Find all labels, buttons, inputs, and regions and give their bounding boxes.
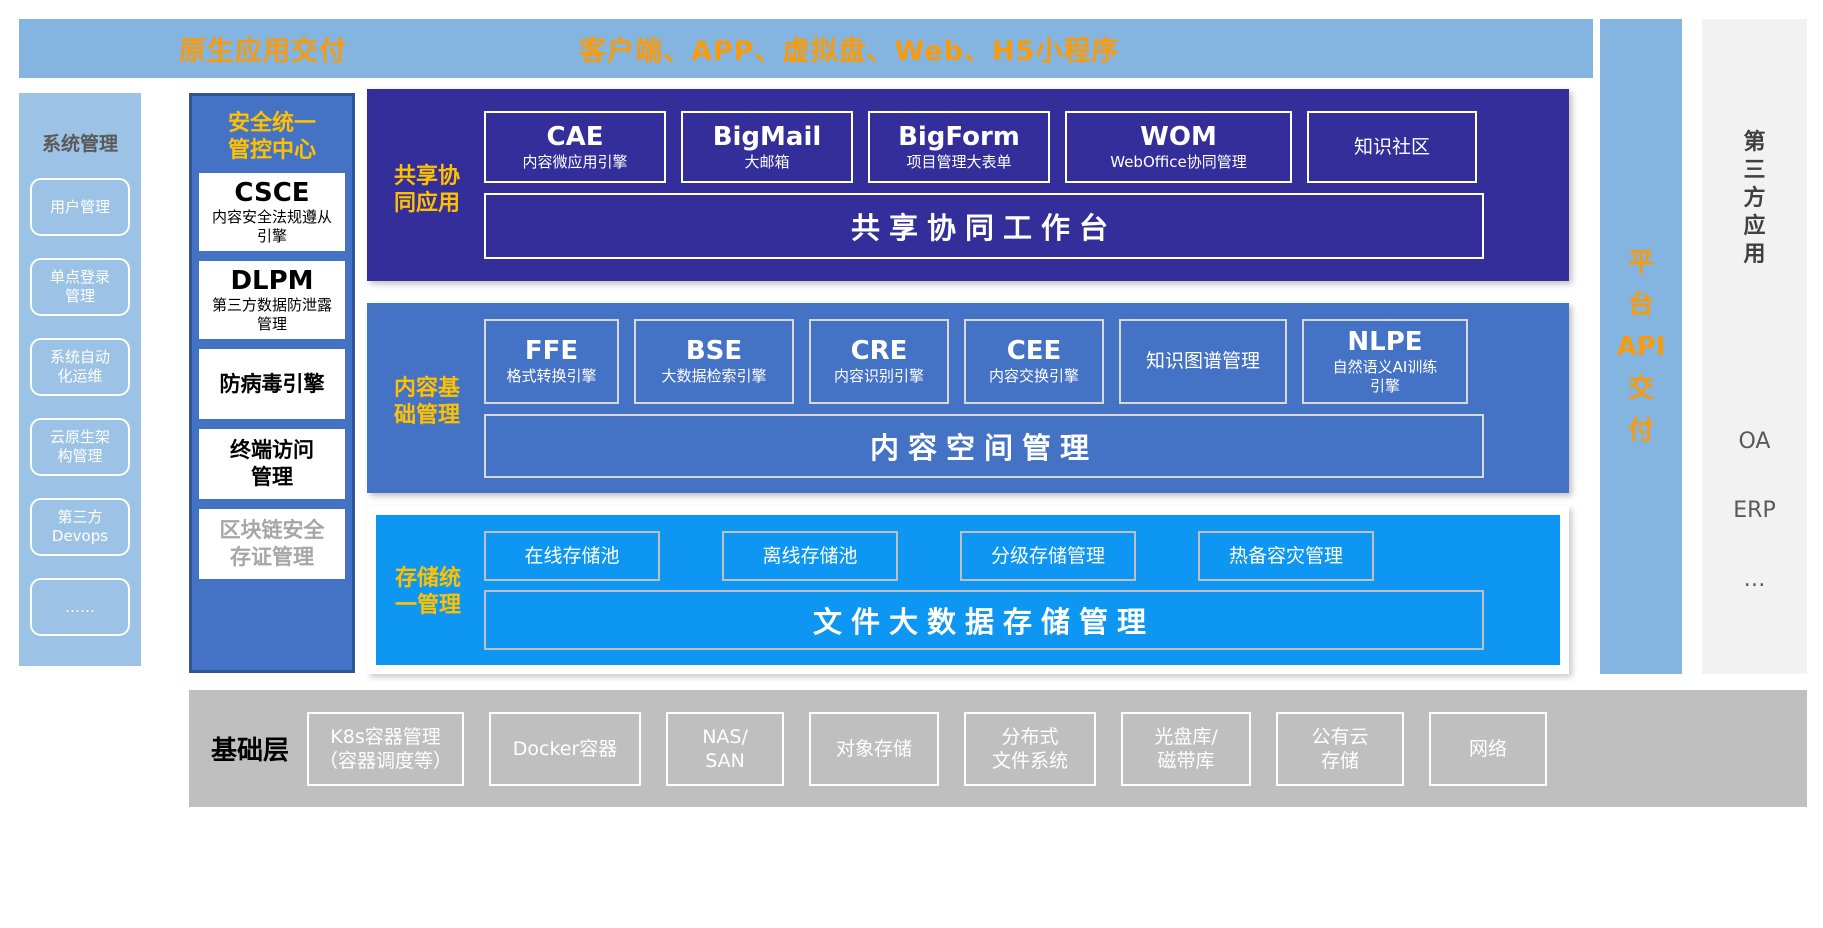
content-tile-bse-name: BSE [686,336,742,367]
storage-tiles: 在线存储池 离线存储池 分级存储管理 热备容灾管理 [484,531,1548,581]
content-tile-ffe-desc: 格式转换引擎 [506,367,596,386]
infra-tile-k8s[interactable]: K8s容器管理 （容器调度等） [307,712,464,786]
content-tile-ffe-name: FFE [525,336,578,367]
storage-label: 存储统 一管理 [382,565,474,619]
content-foundation-panel: 内容基 础管理 FFE 格式转换引擎 BSE 大数据检索引擎 CRE 内容识别引… [367,303,1569,493]
infra-tile-nas-san[interactable]: NAS/ SAN [666,712,784,786]
content-tile-nlpe-name: NLPE [1347,327,1422,358]
storage-tile-offline-pool-label: 离线存储池 [762,544,857,568]
collab-tile-bigmail-name: BigMail [713,122,822,153]
storage-tile-offline-pool[interactable]: 离线存储池 [722,531,898,581]
third-party-applications-column: 第 三 方 应 用 OA ERP … [1702,19,1807,674]
third-party-item-more: … [1744,567,1766,592]
top-banner: 原生应用交付 客户端、APP、虚拟盘、Web、H5小程序 [19,19,1593,78]
content-space-management-bar[interactable]: 内容空间管理 [484,414,1484,478]
security-item-dlpm-desc: 第三方数据防泄露 管理 [212,296,332,334]
content-foundation-label: 内容基 础管理 [381,375,473,429]
sysmgmt-item-cloud-native-arch[interactable]: 云原生架 构管理 [30,418,130,476]
platform-api-column: 平 台 API 交 付 [1600,19,1682,674]
collab-tile-wom-desc: WebOffice协同管理 [1110,153,1247,172]
content-tile-knowledge-graph-label: 知识图谱管理 [1146,349,1260,373]
infrastructure-items: K8s容器管理 （容器调度等） Docker容器 NAS/ SAN 对象存储 分… [307,712,1547,786]
infra-tile-network[interactable]: 网络 [1429,712,1547,786]
storage-panel-wrapper: 存储统 一管理 在线存储池 离线存储池 分级存储管理 热备容灾管理 [367,506,1569,674]
platform-api-label: 平 台 API 交 付 [1617,242,1666,452]
sysmgmt-item-user-management[interactable]: 用户管理 [30,178,130,236]
security-item-terminal-access[interactable]: 终端访问 管理 [199,429,345,499]
third-party-item-erp: ERP [1733,498,1775,523]
collaboration-body: CAE 内容微应用引擎 BigMail 大邮箱 BigForm 项目管理大表单 … [381,101,1555,269]
content-tile-knowledge-graph[interactable]: 知识图谱管理 [1119,319,1287,404]
storage-tile-tiered-management[interactable]: 分级存储管理 [960,531,1136,581]
collab-tile-wom-name: WOM [1140,122,1217,153]
sysmgmt-item-third-party-devops[interactable]: 第三方 Devops [30,498,130,556]
infra-tile-docker[interactable]: Docker容器 [489,712,641,786]
collab-tile-bigform[interactable]: BigForm 项目管理大表单 [868,111,1050,183]
security-item-dlpm[interactable]: DLPM 第三方数据防泄露 管理 [199,261,345,339]
content-tile-nlpe[interactable]: NLPE 自然语义AI训练 引擎 [1302,319,1468,404]
security-item-blockchain-evidence-label: 区块链安全 存证管理 [220,517,325,571]
content-tile-cee-name: CEE [1007,336,1062,367]
storage-unified-management-panel: 存储统 一管理 在线存储池 离线存储池 分级存储管理 热备容灾管理 [376,515,1560,665]
storage-tile-online-pool[interactable]: 在线存储池 [484,531,660,581]
content-tile-bse-desc: 大数据检索引擎 [661,367,766,386]
security-item-dlpm-code: DLPM [230,266,313,296]
content-tile-nlpe-desc: 自然语义AI训练 引擎 [1333,358,1438,396]
collab-tile-bigmail[interactable]: BigMail 大邮箱 [681,111,853,183]
content-tile-cee[interactable]: CEE 内容交换引擎 [964,319,1104,404]
content-tile-cre[interactable]: CRE 内容识别引擎 [809,319,949,404]
collab-tile-cae-desc: 内容微应用引擎 [522,153,627,172]
content-tile-cre-desc: 内容识别引擎 [834,367,924,386]
storage-tile-tiered-management-label: 分级存储管理 [991,544,1105,568]
security-item-antivirus-engine[interactable]: 防病毒引擎 [199,349,345,419]
content-tile-cee-desc: 内容交换引擎 [989,367,1079,386]
content-foundation-tiles: FFE 格式转换引擎 BSE 大数据检索引擎 CRE 内容识别引擎 CEE 内容… [484,319,1555,404]
collab-tile-wom[interactable]: WOM WebOffice协同管理 [1065,111,1292,183]
file-bigdata-storage-bar[interactable]: 文件大数据存储管理 [484,590,1484,650]
security-item-csce-desc: 内容安全法规遵从 引擎 [212,208,332,246]
system-management-title: 系统管理 [42,129,118,156]
content-tile-bse[interactable]: BSE 大数据检索引擎 [634,319,794,404]
infrastructure-title: 基础层 [211,730,289,767]
security-center-title: 安全统一 管控中心 [228,110,316,164]
collab-tile-cae-name: CAE [547,122,604,153]
security-item-csce-code: CSCE [234,178,309,208]
third-party-title: 第 三 方 应 用 [1743,129,1765,269]
storage-tile-online-pool-label: 在线存储池 [524,544,619,568]
content-foundation-body: FFE 格式转换引擎 BSE 大数据检索引擎 CRE 内容识别引擎 CEE 内容… [381,315,1555,481]
collaboration-tiles: CAE 内容微应用引擎 BigMail 大邮箱 BigForm 项目管理大表单 … [484,111,1555,183]
collab-tile-bigform-desc: 项目管理大表单 [906,153,1011,172]
collab-tile-bigmail-desc: 大邮箱 [744,153,789,172]
sysmgmt-item-automation-ops[interactable]: 系统自动 化运维 [30,338,130,396]
third-party-item-oa: OA [1739,429,1771,454]
system-management-panel: 系统管理 用户管理 单点登录 管理 系统自动 化运维 云原生架 构管理 第三方 … [19,93,141,666]
infrastructure-layer-panel: 基础层 K8s容器管理 （容器调度等） Docker容器 NAS/ SAN 对象… [189,690,1807,807]
infra-tile-distributed-fs[interactable]: 分布式 文件系统 [964,712,1096,786]
security-item-antivirus-engine-label: 防病毒引擎 [220,371,325,398]
infra-tile-object-storage[interactable]: 对象存储 [809,712,939,786]
content-tile-ffe[interactable]: FFE 格式转换引擎 [484,319,619,404]
storage-tile-hot-standby-dr-label: 热备容灾管理 [1229,544,1343,568]
collab-tile-bigform-name: BigForm [898,122,1020,153]
collab-tile-knowledge-community-label: 知识社区 [1354,135,1430,159]
storage-tile-hot-standby-dr[interactable]: 热备容灾管理 [1198,531,1374,581]
shared-collaboration-panel: 共享协 同应用 CAE 内容微应用引擎 BigMail 大邮箱 BigForm … [367,89,1569,281]
infra-tile-public-cloud-storage[interactable]: 公有云 存储 [1276,712,1404,786]
collaboration-workbench-bar[interactable]: 共享协同工作台 [484,193,1484,259]
banner-native-delivery-label: 原生应用交付 [179,29,347,68]
security-item-terminal-access-label: 终端访问 管理 [230,437,314,491]
sysmgmt-item-sso-management[interactable]: 单点登录 管理 [30,258,130,316]
security-item-blockchain-evidence[interactable]: 区块链安全 存证管理 [199,509,345,579]
security-control-center-panel: 安全统一 管控中心 CSCE 内容安全法规遵从 引擎 DLPM 第三方数据防泄露… [189,93,355,673]
security-item-csce[interactable]: CSCE 内容安全法规遵从 引擎 [199,173,345,251]
sysmgmt-item-more[interactable]: …… [30,578,130,636]
infra-tile-optical-tape-library[interactable]: 光盘库/ 磁带库 [1121,712,1251,786]
architecture-diagram: 原生应用交付 客户端、APP、虚拟盘、Web、H5小程序 系统管理 用户管理 单… [0,0,1823,928]
collab-tile-knowledge-community[interactable]: 知识社区 [1307,111,1477,183]
storage-body: 在线存储池 离线存储池 分级存储管理 热备容灾管理 文件大数据存储管理 [388,525,1548,655]
banner-clients-label: 客户端、APP、虚拟盘、Web、H5小程序 [579,29,1119,68]
collab-tile-cae[interactable]: CAE 内容微应用引擎 [484,111,666,183]
collaboration-label: 共享协 同应用 [381,163,473,217]
content-tile-cre-name: CRE [851,336,908,367]
